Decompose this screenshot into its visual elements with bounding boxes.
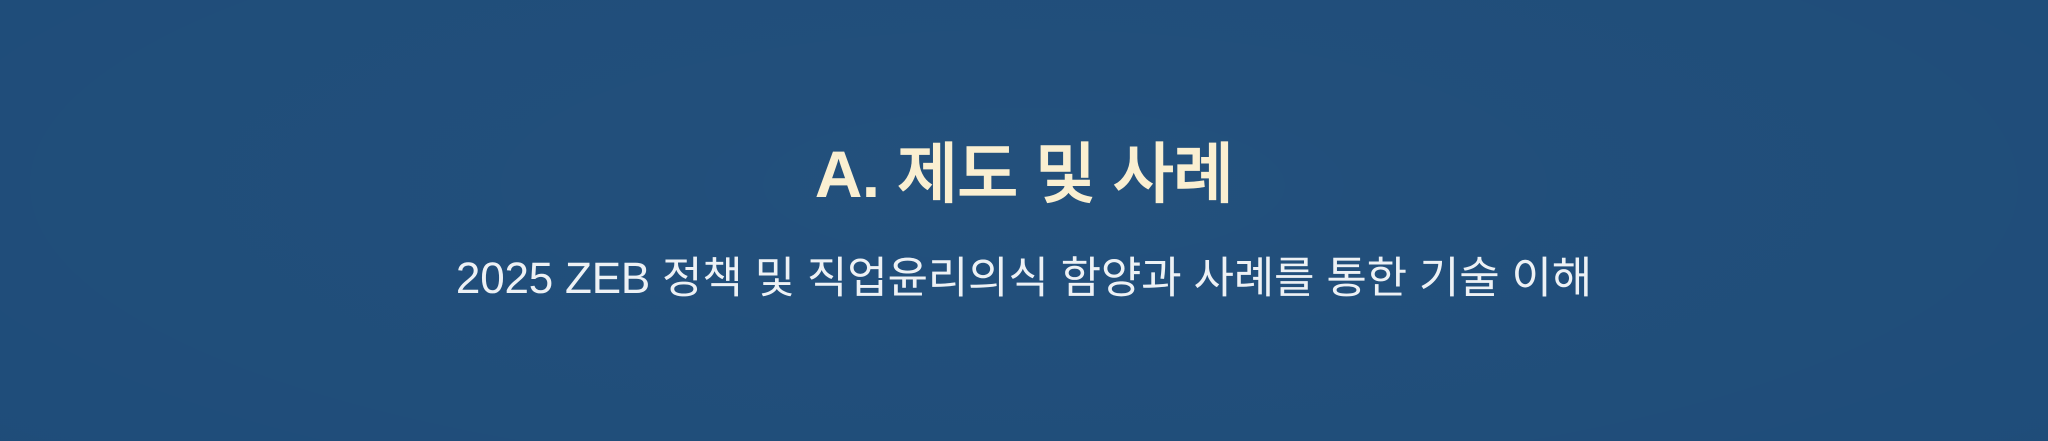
slide-background	[0, 0, 2048, 441]
slide-subtitle: 2025 ZEB 정책 및 직업윤리의식 함양과 사례를 통한 기술 이해	[0, 252, 2048, 306]
page-title: A. 제도 및 사례	[0, 134, 2048, 214]
presentation-slide: A. 제도 및 사례 2025 ZEB 정책 및 직업윤리의식 함양과 사례를 …	[0, 0, 2048, 441]
